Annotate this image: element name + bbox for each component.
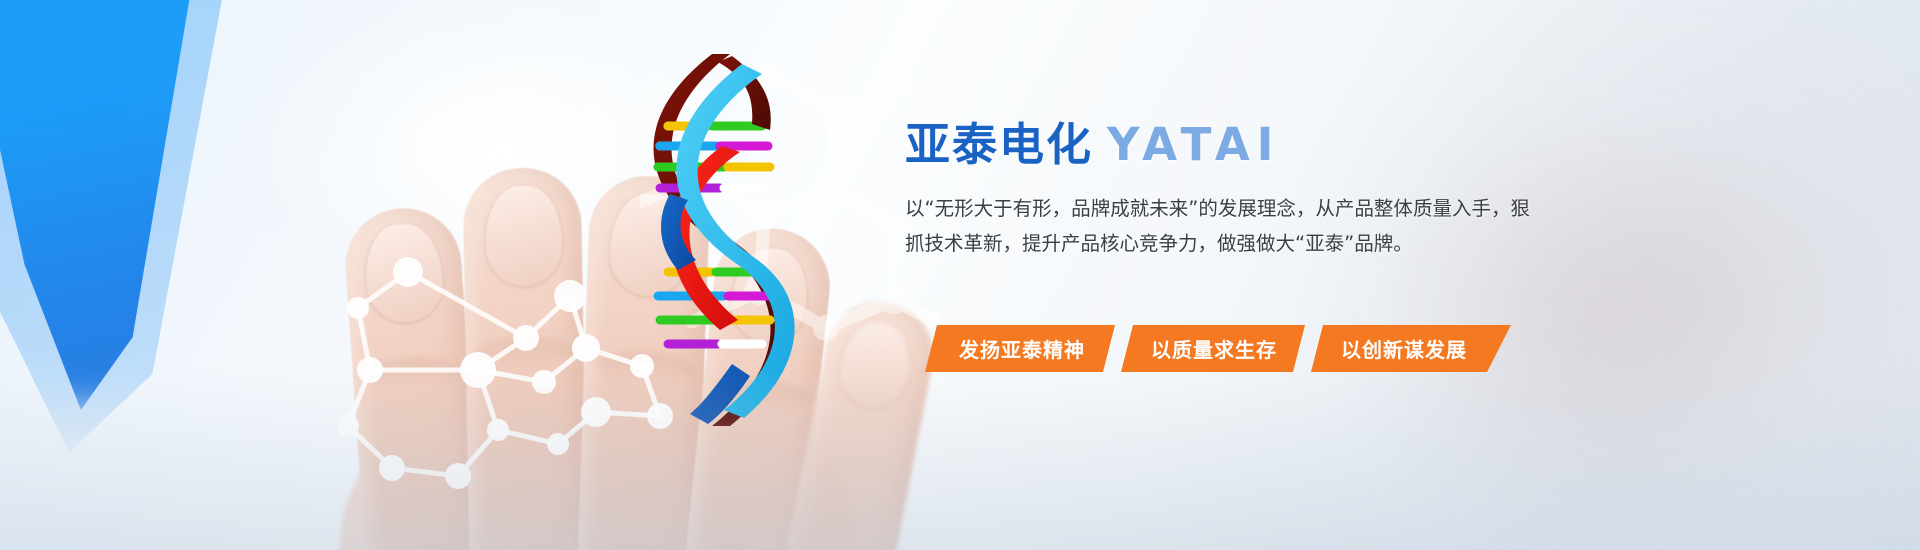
banner-description: 以“无形大于有形，品牌成就未来”的发展理念，从产品整体质量入手，狠抓技术革新，提… [905, 192, 1530, 261]
promo-banner: 亚泰电化YATAI 以“无形大于有形，品牌成就未来”的发展理念，从产品整体质量入… [0, 0, 1920, 550]
banner-title-chinese: 亚泰电化 [905, 118, 1093, 171]
banner-text-block: 亚泰电化YATAI 以“无形大于有形，品牌成就未来”的发展理念，从产品整体质量入… [905, 118, 1565, 262]
slogan-tag-2[interactable]: 以质量求生存 [1121, 325, 1305, 372]
background-bottom-fade [0, 370, 1920, 550]
slogan-tag-list: 发扬亚泰精神 以质量求生存 以创新谋发展 [925, 325, 1511, 372]
banner-title: 亚泰电化YATAI [905, 118, 1565, 171]
slogan-tag-3[interactable]: 以创新谋发展 [1311, 325, 1511, 372]
slogan-tag-1[interactable]: 发扬亚泰精神 [925, 325, 1115, 372]
banner-title-english: YATAI [1107, 118, 1280, 171]
